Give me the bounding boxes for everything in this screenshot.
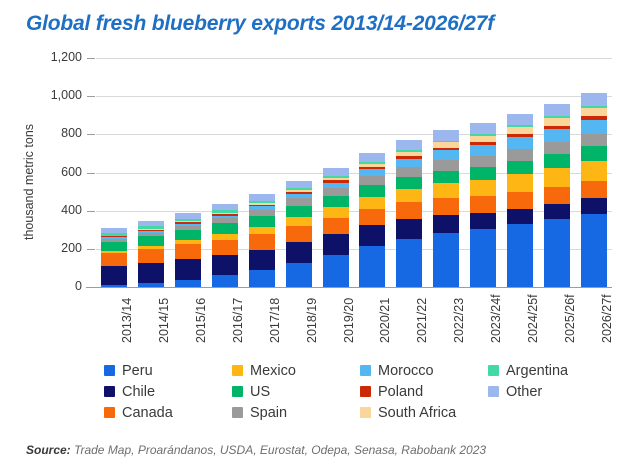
chart-title: Global fresh blueberry exports 2013/14-2… — [26, 12, 494, 36]
bar-group[interactable] — [544, 104, 570, 287]
legend-swatch-icon — [104, 407, 115, 418]
bar-group[interactable] — [212, 204, 238, 287]
chart-legend: PeruMexicoMoroccoArgentinaChileUSPolandO… — [104, 360, 604, 423]
bar-segment-canada[interactable] — [581, 181, 607, 199]
x-tick-label: 2017/18 — [268, 298, 282, 343]
y-tick-mark — [87, 96, 95, 97]
bar-segment-spain[interactable] — [286, 198, 312, 205]
gridline — [96, 211, 612, 212]
bar-segment-canada[interactable] — [470, 196, 496, 213]
bar-segment-us[interactable] — [581, 146, 607, 160]
bar-segment-mexico[interactable] — [286, 217, 312, 226]
bar-segment-us[interactable] — [507, 161, 533, 174]
bar-segment-peru[interactable] — [470, 229, 496, 287]
x-tick-label: 2021/22 — [415, 298, 429, 343]
chart-root: Global fresh blueberry exports 2013/14-2… — [0, 0, 627, 470]
legend-swatch-icon — [488, 386, 499, 397]
x-tick-label: 2014/15 — [157, 298, 171, 343]
bar-segment-us[interactable] — [544, 154, 570, 168]
legend-swatch-icon — [232, 365, 243, 376]
bar-segment-morocco[interactable] — [396, 159, 422, 167]
y-tick-mark — [87, 249, 95, 250]
y-tick-label: 0 — [75, 279, 82, 293]
bar-segment-canada[interactable] — [249, 234, 275, 249]
bar-group[interactable] — [581, 93, 607, 287]
bar-segment-canada[interactable] — [286, 226, 312, 242]
gridline — [96, 173, 612, 174]
bar-segment-other[interactable] — [507, 114, 533, 126]
bar-segment-peru[interactable] — [286, 263, 312, 287]
bar-segment-chile[interactable] — [138, 263, 164, 283]
bar-segment-spain[interactable] — [359, 176, 385, 185]
bar-segment-canada[interactable] — [323, 218, 349, 234]
bar-segment-us[interactable] — [323, 196, 349, 207]
bar-segment-us[interactable] — [433, 171, 459, 184]
bar-segment-chile[interactable] — [396, 219, 422, 239]
legend-item-south-africa[interactable]: South Africa — [360, 405, 488, 421]
bar-segment-south-africa[interactable] — [581, 108, 607, 116]
bar-segment-canada[interactable] — [359, 209, 385, 225]
y-tick-label: 800 — [61, 126, 82, 140]
bar-segment-other[interactable] — [323, 168, 349, 176]
bar-segment-morocco[interactable] — [544, 129, 570, 142]
bar-segment-chile[interactable] — [286, 242, 312, 263]
bar-segment-peru[interactable] — [359, 246, 385, 287]
bar-segment-mexico[interactable] — [396, 189, 422, 202]
bar-segment-peru[interactable] — [323, 255, 349, 287]
bar-segment-chile[interactable] — [175, 259, 201, 280]
legend-swatch-icon — [232, 407, 243, 418]
bar-group[interactable] — [286, 181, 312, 287]
bar-segment-chile[interactable] — [433, 215, 459, 233]
bar-segment-other[interactable] — [433, 130, 459, 140]
bar-segment-us[interactable] — [138, 236, 164, 246]
y-tick-mark — [87, 173, 95, 174]
x-axis-line — [86, 287, 612, 288]
bar-segment-south-africa[interactable] — [544, 118, 570, 125]
bar-group[interactable] — [138, 221, 164, 287]
legend-swatch-icon — [104, 365, 115, 376]
bar-segment-other[interactable] — [286, 181, 312, 188]
bar-segment-morocco[interactable] — [507, 137, 533, 149]
legend-item-chile[interactable]: Chile — [104, 384, 232, 400]
y-tick-mark — [87, 134, 95, 135]
gridline — [96, 58, 612, 59]
bar-segment-chile[interactable] — [212, 255, 238, 276]
bar-group[interactable] — [433, 130, 459, 287]
bar-segment-mexico[interactable] — [544, 168, 570, 187]
source-note: Source: Trade Map, Proarándanos, USDA, E… — [26, 443, 486, 457]
bar-segment-spain[interactable] — [507, 149, 533, 161]
x-tick-label: 2019/20 — [342, 298, 356, 343]
x-tick-label: 2025/26f — [563, 294, 577, 343]
y-tick-label: 600 — [61, 165, 82, 179]
bar-segment-us[interactable] — [175, 230, 201, 240]
bar-group[interactable] — [470, 123, 496, 287]
bar-segment-us[interactable] — [101, 242, 127, 251]
bar-segment-spain[interactable] — [544, 142, 570, 154]
bar-segment-spain[interactable] — [470, 156, 496, 167]
bar-segment-spain[interactable] — [581, 134, 607, 147]
bar-segment-chile[interactable] — [544, 204, 570, 219]
legend-swatch-icon — [104, 386, 115, 397]
bar-segment-peru[interactable] — [581, 214, 607, 287]
legend-item-us[interactable]: US — [232, 384, 360, 400]
bar-segment-peru[interactable] — [396, 239, 422, 287]
legend-label: Canada — [122, 405, 173, 421]
bar-segment-other[interactable] — [581, 93, 607, 106]
x-tick-label: 2024/25f — [526, 294, 540, 343]
bar-segment-canada[interactable] — [212, 240, 238, 255]
bar-group[interactable] — [323, 168, 349, 287]
bar-group[interactable] — [249, 194, 275, 287]
gridline — [96, 134, 612, 135]
bar-segment-spain[interactable] — [396, 167, 422, 177]
bar-group[interactable] — [396, 140, 422, 287]
legend-item-canada[interactable]: Canada — [104, 405, 232, 421]
legend-label: Argentina — [506, 363, 568, 379]
legend-item-morocco[interactable]: Morocco — [360, 363, 488, 379]
x-tick-label: 2026/27f — [600, 294, 614, 343]
bar-segment-us[interactable] — [212, 223, 238, 233]
bar-segment-other[interactable] — [470, 123, 496, 134]
bar-segment-us[interactable] — [470, 167, 496, 180]
x-tick-label: 2015/16 — [194, 298, 208, 343]
legend-swatch-icon — [232, 386, 243, 397]
x-tick-label: 2020/21 — [378, 298, 392, 343]
legend-item-other[interactable]: Other — [488, 384, 616, 400]
legend-label: Mexico — [250, 363, 296, 379]
y-tick-label: 1,000 — [51, 88, 82, 102]
y-tick-mark — [87, 58, 95, 59]
source-text: Trade Map, Proarándanos, USDA, Eurostat,… — [71, 443, 486, 457]
legend-swatch-icon — [488, 365, 499, 376]
legend-label: US — [250, 384, 270, 400]
bar-segment-mexico[interactable] — [507, 174, 533, 192]
bar-segment-mexico[interactable] — [249, 227, 275, 235]
y-tick-label: 200 — [61, 241, 82, 255]
bar-segment-chile[interactable] — [101, 266, 127, 285]
bar-segment-mexico[interactable] — [433, 183, 459, 198]
legend-item-mexico[interactable]: Mexico — [232, 363, 360, 379]
legend-item-poland[interactable]: Poland — [360, 384, 488, 400]
bar-segment-other[interactable] — [396, 140, 422, 150]
bar-segment-us[interactable] — [359, 185, 385, 197]
bar-segment-peru[interactable] — [212, 275, 238, 287]
bar-segment-peru[interactable] — [544, 219, 570, 287]
legend-label: South Africa — [378, 405, 456, 421]
bar-segment-spain[interactable] — [323, 188, 349, 196]
legend-swatch-icon — [360, 407, 371, 418]
bar-segment-peru[interactable] — [249, 270, 275, 287]
bar-segment-mexico[interactable] — [470, 180, 496, 196]
legend-item-peru[interactable]: Peru — [104, 363, 232, 379]
bar-segment-canada[interactable] — [396, 202, 422, 219]
bar-group[interactable] — [507, 114, 533, 287]
bar-segment-chile[interactable] — [581, 198, 607, 213]
bar-segment-other[interactable] — [359, 153, 385, 162]
bar-segment-us[interactable] — [286, 206, 312, 217]
y-axis-title: thousand metric tons — [22, 124, 36, 240]
bar-segment-canada[interactable] — [507, 192, 533, 209]
bar-segment-morocco[interactable] — [581, 120, 607, 134]
bar-segment-peru[interactable] — [433, 233, 459, 287]
bar-segment-chile[interactable] — [507, 209, 533, 224]
x-tick-label: 2022/23 — [452, 298, 466, 343]
legend-label: Poland — [378, 384, 423, 400]
bar-group[interactable] — [359, 153, 385, 287]
x-tick-label: 2016/17 — [231, 298, 245, 343]
bar-segment-us[interactable] — [396, 177, 422, 189]
bar-segment-canada[interactable] — [544, 187, 570, 204]
plot-area — [96, 58, 612, 287]
bar-segment-canada[interactable] — [175, 244, 201, 259]
bar-segment-morocco[interactable] — [433, 150, 459, 160]
legend-label: Peru — [122, 363, 153, 379]
bar-segment-canada[interactable] — [433, 198, 459, 215]
x-tick-label: 2013/14 — [120, 298, 134, 343]
x-tick-label: 2023/24f — [489, 294, 503, 343]
gridline — [96, 96, 612, 97]
bar-segment-spain[interactable] — [433, 160, 459, 171]
legend-swatch-icon — [360, 386, 371, 397]
bar-segment-us[interactable] — [249, 216, 275, 227]
gridline — [96, 249, 612, 250]
legend-item-argentina[interactable]: Argentina — [488, 363, 616, 379]
bar-segment-other[interactable] — [544, 104, 570, 117]
bar-segment-peru[interactable] — [175, 280, 201, 287]
legend-item-spain[interactable]: Spain — [232, 405, 360, 421]
bar-segment-other[interactable] — [249, 194, 275, 201]
legend-label: Spain — [250, 405, 287, 421]
bar-segment-chile[interactable] — [359, 225, 385, 246]
legend-label: Other — [506, 384, 542, 400]
bar-segment-canada[interactable] — [101, 253, 127, 267]
bar-segment-chile[interactable] — [470, 213, 496, 229]
bar-segment-mexico[interactable] — [323, 207, 349, 217]
bar-segment-morocco[interactable] — [470, 145, 496, 156]
bar-group[interactable] — [175, 213, 201, 287]
y-tick-mark — [87, 211, 95, 212]
bar-segment-canada[interactable] — [138, 249, 164, 263]
legend-label: Chile — [122, 384, 155, 400]
y-tick-label: 1,200 — [51, 50, 82, 64]
bar-segment-chile[interactable] — [249, 250, 275, 271]
bar-segment-south-africa[interactable] — [507, 127, 533, 134]
bar-segment-peru[interactable] — [507, 224, 533, 287]
bar-group[interactable] — [101, 228, 127, 287]
legend-swatch-icon — [360, 365, 371, 376]
x-tick-label: 2018/19 — [305, 298, 319, 343]
bar-segment-mexico[interactable] — [581, 161, 607, 181]
bar-segment-chile[interactable] — [323, 234, 349, 255]
y-tick-label: 400 — [61, 203, 82, 217]
source-label: Source: — [26, 443, 71, 457]
bar-segment-mexico[interactable] — [359, 197, 385, 209]
legend-label: Morocco — [378, 363, 434, 379]
